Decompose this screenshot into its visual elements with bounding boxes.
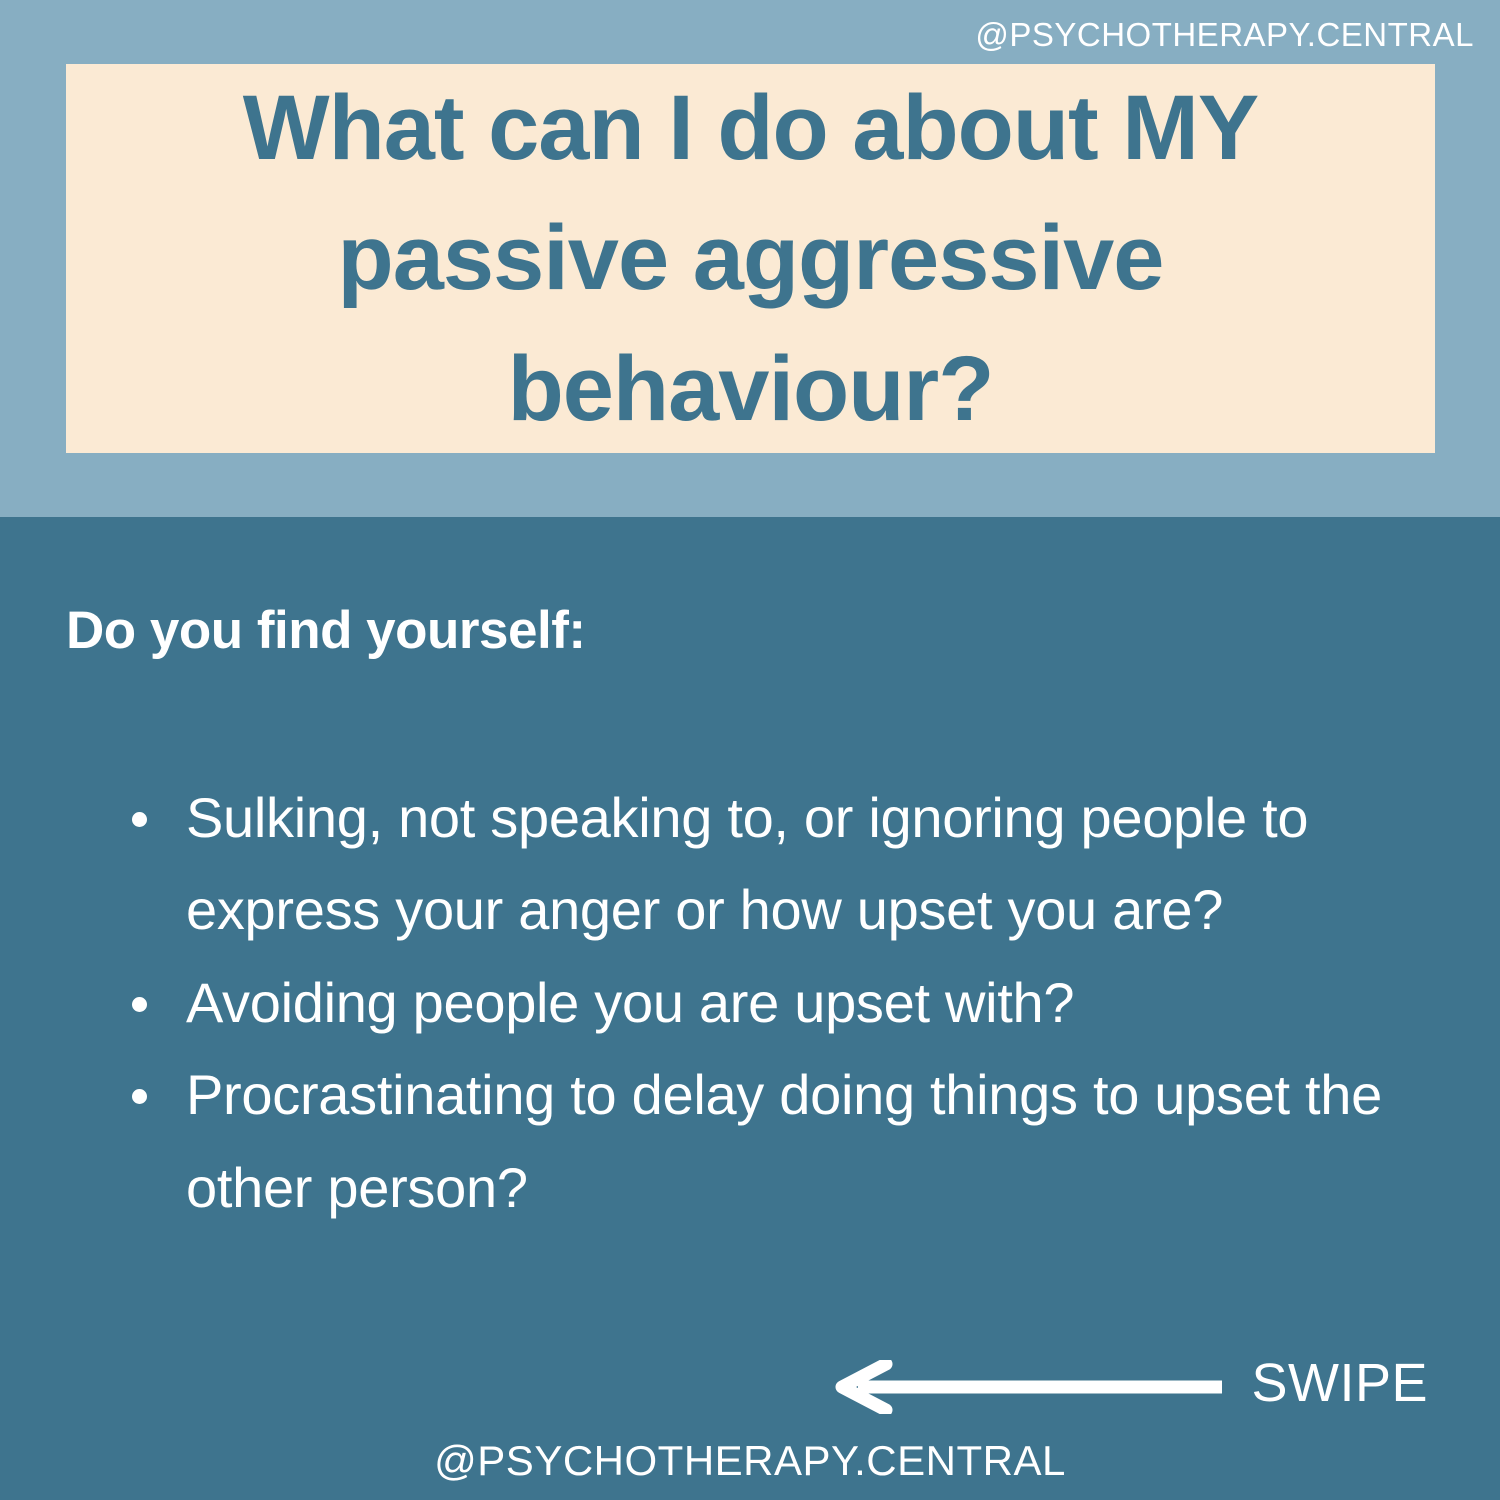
list-item: Sulking, not speaking to, or ignoring pe…	[118, 772, 1438, 957]
swipe-affordance[interactable]: SWIPE	[0, 1352, 1500, 1422]
title-line-2: passive aggressive	[338, 193, 1164, 324]
symptom-list: Sulking, not speaking to, or ignoring pe…	[118, 772, 1438, 1234]
brand-handle-bottom: @PSYCHOTHERAPY.CENTRAL	[0, 1437, 1500, 1485]
body-area: Do you find yourself: Sulking, not speak…	[0, 517, 1500, 1500]
list-item: Procrastinating to delay doing things to…	[118, 1049, 1438, 1234]
list-item: Avoiding people you are upset with?	[118, 957, 1438, 1049]
arrow-left-icon	[832, 1360, 1224, 1414]
brand-handle-top: @PSYCHOTHERAPY.CENTRAL	[975, 16, 1474, 54]
title-line-1: What can I do about MY	[243, 63, 1259, 194]
body-subheading: Do you find yourself:	[66, 600, 586, 661]
slide-canvas: @PSYCHOTHERAPY.CENTRAL What can I do abo…	[0, 0, 1500, 1500]
swipe-label: SWIPE	[1251, 1352, 1428, 1414]
title-card: What can I do about MY passive aggressiv…	[66, 64, 1435, 453]
title-line-3: behaviour?	[508, 324, 994, 455]
